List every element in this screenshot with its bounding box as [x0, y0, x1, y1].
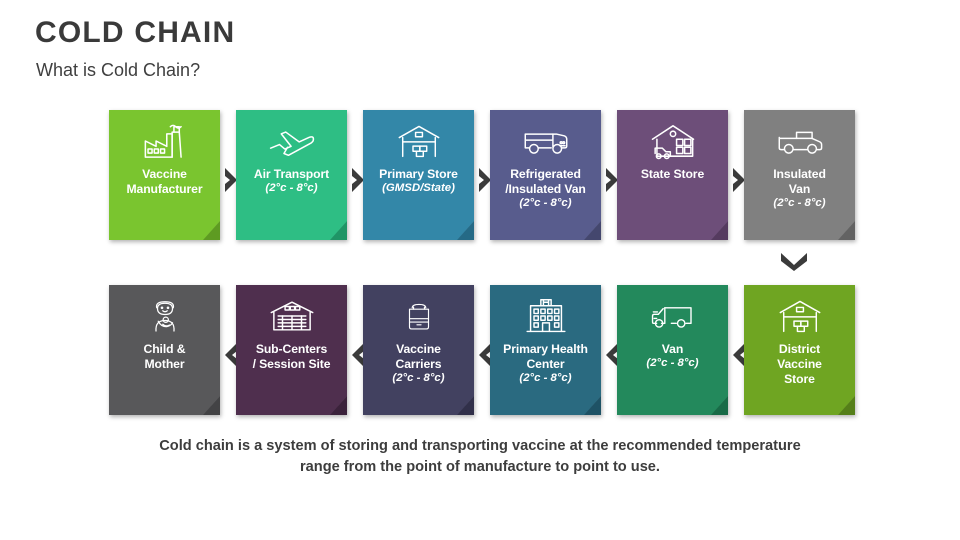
vaccine-carrier-icon: [392, 294, 446, 338]
card-temperature-range: (2°c - 8°c): [265, 182, 317, 196]
cold-chain-card[interactable]: Sub-Centers/ Session Site: [236, 285, 347, 415]
card-content: Sub-Centers/ Session Site: [236, 285, 347, 415]
card-content: Air Transport(2°c - 8°c): [236, 110, 347, 240]
cold-chain-card[interactable]: DistrictVaccineStore: [744, 285, 855, 415]
slide-canvas: COLD CHAIN What is Cold Chain? VaccineMa…: [0, 0, 960, 540]
card-content: InsulatedVan(2°c - 8°c): [744, 110, 855, 240]
cold-chain-card[interactable]: Refrigerated/Insulated Van(2°c - 8°c): [490, 110, 601, 240]
page-subtitle: What is Cold Chain?: [36, 60, 200, 81]
card-label: State Store: [638, 167, 707, 182]
cold-chain-card[interactable]: VaccineManufacturer: [109, 110, 220, 240]
page-title: COLD CHAIN: [35, 16, 235, 49]
cold-chain-row-upstream: VaccineManufacturer Air Transport(2°c - …: [0, 110, 960, 245]
cold-chain-card[interactable]: Primary HealthCenter(2°c - 8°c): [490, 285, 601, 415]
cold-chain-card[interactable]: Primary Store(GMSD/State): [363, 110, 474, 240]
airplane-icon: [265, 119, 319, 163]
card-content: State Store: [617, 110, 728, 240]
card-content: Refrigerated/Insulated Van(2°c - 8°c): [490, 110, 601, 240]
mother-child-icon: [138, 294, 192, 338]
card-label: InsulatedVan: [770, 167, 829, 197]
store-house-icon: [646, 119, 700, 163]
chevron-down-icon: [779, 250, 809, 272]
card-temperature-range: (GMSD/State): [382, 182, 455, 196]
cold-chain-card[interactable]: Child &Mother: [109, 285, 220, 415]
session-site-icon: [265, 294, 319, 338]
card-label: VaccineCarriers: [393, 342, 445, 372]
card-label: Primary Store: [376, 167, 461, 182]
card-content: Primary HealthCenter(2°c - 8°c): [490, 285, 601, 415]
cold-chain-card[interactable]: Van(2°c - 8°c): [617, 285, 728, 415]
card-content: DistrictVaccineStore: [744, 285, 855, 415]
card-content: Child &Mother: [109, 285, 220, 415]
card-label: Air Transport: [251, 167, 332, 182]
cold-chain-card[interactable]: State Store: [617, 110, 728, 240]
card-temperature-range: (2°c - 8°c): [392, 372, 444, 386]
cold-chain-card[interactable]: VaccineCarriers(2°c - 8°c): [363, 285, 474, 415]
card-label: Primary HealthCenter: [500, 342, 591, 372]
card-label: VaccineManufacturer: [123, 167, 205, 197]
cold-chain-card[interactable]: Air Transport(2°c - 8°c): [236, 110, 347, 240]
card-temperature-range: (2°c - 8°c): [519, 197, 571, 211]
van-icon: [519, 119, 573, 163]
pickup-truck-icon: [773, 119, 827, 163]
warehouse-icon: [392, 119, 446, 163]
card-label: Van: [659, 342, 686, 357]
card-label: Sub-Centers/ Session Site: [250, 342, 334, 372]
card-label: Child &Mother: [141, 342, 189, 372]
card-label: DistrictVaccineStore: [774, 342, 825, 387]
card-temperature-range: (2°c - 8°c): [519, 372, 571, 386]
truck-icon: [646, 294, 700, 338]
factory-icon: [138, 119, 192, 163]
cold-chain-card[interactable]: InsulatedVan(2°c - 8°c): [744, 110, 855, 240]
cold-chain-row-downstream: Child &Mother Sub-Centers/ Session Site …: [0, 285, 960, 420]
card-temperature-range: (2°c - 8°c): [646, 357, 698, 371]
card-label: Refrigerated/Insulated Van: [502, 167, 589, 197]
hospital-icon: [519, 294, 573, 338]
warehouse-icon: [773, 294, 827, 338]
card-content: VaccineCarriers(2°c - 8°c): [363, 285, 474, 415]
caption-text: Cold chain is a system of storing and tr…: [0, 436, 960, 477]
card-content: Van(2°c - 8°c): [617, 285, 728, 415]
card-temperature-range: (2°c - 8°c): [773, 197, 825, 211]
card-content: Primary Store(GMSD/State): [363, 110, 474, 240]
card-content: VaccineManufacturer: [109, 110, 220, 240]
